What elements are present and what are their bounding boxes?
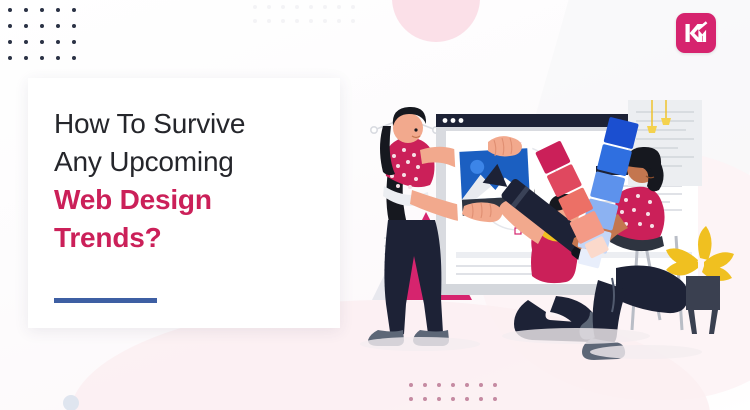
top-left-dot [8,24,12,28]
top-center-dot [267,5,271,9]
top-left-dot [8,56,12,60]
top-left-dot [72,8,76,12]
top-center-dot [351,19,355,23]
top-left-dot [24,40,28,44]
small-blue-circle-decoration [63,395,79,410]
top-left-dot [8,40,12,44]
top-left-dot [24,24,28,28]
headline-line-2: Any Upcoming [54,143,324,181]
top-center-dot [337,5,341,9]
top-center-dot [281,19,285,23]
top-center-dot [323,19,327,23]
top-center-dot [281,5,285,9]
web-design-team-illustration [360,0,750,410]
top-left-dot [56,40,60,44]
headline-line-1: How To Survive [54,105,324,143]
top-center-dot [309,5,313,9]
top-left-dot [24,8,28,12]
top-center-dot [309,19,313,23]
top-left-dot [72,40,76,44]
top-left-dot [72,56,76,60]
top-center-dot [295,19,299,23]
page-title: How To Survive Any Upcoming Web Design T… [54,105,324,257]
banner-stage: How To Survive Any Upcoming Web Design T… [0,0,750,410]
top-left-dot [40,8,44,12]
top-center-dot [351,5,355,9]
top-left-dot [56,8,60,12]
title-underline-rule [54,298,157,303]
top-center-dot [253,5,257,9]
top-left-dot [24,56,28,60]
top-center-dot [337,19,341,23]
top-left-dot [40,56,44,60]
top-left-dot [40,24,44,28]
headline-card: How To Survive Any Upcoming Web Design T… [28,78,340,328]
top-center-dot [295,5,299,9]
top-left-dot [8,8,12,12]
top-left-dot [56,24,60,28]
top-center-dot [323,5,327,9]
top-left-dot [72,24,76,28]
top-left-dot [56,56,60,60]
headline-accent-line-2: Trends? [54,219,324,257]
top-center-dot [253,19,257,23]
top-left-dot [40,40,44,44]
headline-accent-line-1: Web Design [54,181,324,219]
top-center-dot [267,19,271,23]
